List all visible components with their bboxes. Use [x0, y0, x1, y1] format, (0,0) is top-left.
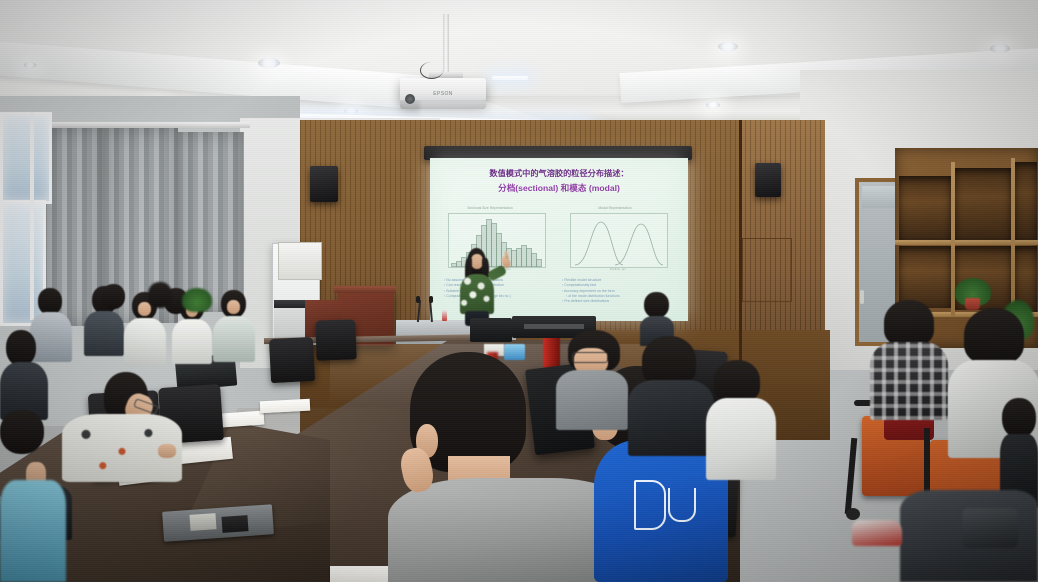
microphone-head — [429, 296, 433, 303]
hoodie-letter-d — [634, 480, 666, 530]
attendee-left-5 — [212, 290, 256, 362]
hoodie-letter-u — [668, 488, 696, 522]
shelf-divider — [895, 240, 1038, 245]
wall-board — [278, 242, 322, 280]
shelf-cell — [899, 176, 951, 240]
wall-speaker-right — [755, 163, 781, 197]
monitor-left — [470, 318, 512, 342]
chair-back[interactable] — [315, 319, 356, 360]
outlet-socket[interactable] — [189, 513, 216, 531]
attendee-back-left — [144, 282, 178, 314]
desk-water-bottle — [442, 310, 447, 321]
attendee-left-7 — [0, 330, 50, 420]
eyeglasses — [572, 352, 608, 363]
presenter-finger — [504, 251, 509, 259]
shelf-cell — [899, 246, 951, 308]
attendee-dark-right — [628, 336, 714, 456]
podium-top — [334, 286, 396, 293]
slide-title-line1: 数值模式中的气溶胶的粒径分布描述： — [430, 167, 688, 181]
bag — [962, 508, 1018, 548]
notebook-paper — [222, 411, 265, 428]
ceiling-downlight — [718, 42, 738, 51]
shelf-cell — [1015, 162, 1037, 240]
ceiling-tube-light — [492, 76, 528, 80]
projector-lens — [405, 94, 415, 104]
ceiling-downlight — [258, 58, 280, 68]
attendee-left-9 — [0, 480, 70, 582]
attendee-left-6 — [96, 284, 134, 324]
right-chart — [570, 213, 668, 268]
shelf-cell — [955, 168, 1011, 240]
projector-cable — [420, 62, 443, 79]
attendee-hand — [158, 444, 176, 458]
presenter-jacket — [460, 274, 494, 314]
curtain-rod — [38, 122, 250, 128]
sneaker — [852, 520, 902, 546]
chair-back[interactable] — [269, 337, 315, 383]
outlet-socket[interactable] — [221, 515, 248, 533]
wall-access-hatch — [742, 238, 792, 302]
ceiling-downlight — [706, 102, 720, 108]
wall-speaker-left — [310, 166, 338, 202]
ceiling-downlight — [990, 44, 1010, 53]
right-chart-xlabel: Particle, µm — [570, 267, 666, 271]
microphone-head — [416, 296, 420, 303]
potted-plant-window — [182, 288, 212, 312]
presenter — [452, 248, 512, 326]
curtain-right — [178, 132, 244, 312]
chair-frame — [845, 438, 858, 514]
conference-room-photo: EPSON 数值模式中的气溶胶的粒径分布描述： 分档(sectional) 和模… — [0, 0, 1038, 582]
window — [0, 112, 52, 204]
ceiling-downlight — [24, 62, 36, 68]
attendee-notetaker — [62, 372, 210, 482]
ceiling-downlight — [344, 108, 358, 114]
attendee-glasses-center — [556, 330, 630, 430]
attendee-white-shirt-right — [706, 360, 776, 480]
attendee-plaid-shirt — [870, 300, 950, 420]
slide-title-line2: 分档(sectional) 和模态 (modal) — [430, 181, 688, 195]
projector-mount-pole — [443, 14, 449, 76]
chair-wheel — [846, 508, 860, 520]
door-handle[interactable] — [860, 290, 864, 304]
slide-title: 数值模式中的气溶胶的粒径分布描述： 分档(sectional) 和模态 (mod… — [430, 167, 688, 195]
right-chart-caption: Modal Representation — [560, 206, 670, 210]
monitor-label — [524, 324, 584, 329]
projector-brand-label: EPSON — [425, 91, 461, 97]
shelf-divider-vertical — [1011, 158, 1015, 317]
plaid-pattern — [870, 342, 948, 420]
left-chart-caption: Sectional Size Representation — [430, 206, 550, 210]
